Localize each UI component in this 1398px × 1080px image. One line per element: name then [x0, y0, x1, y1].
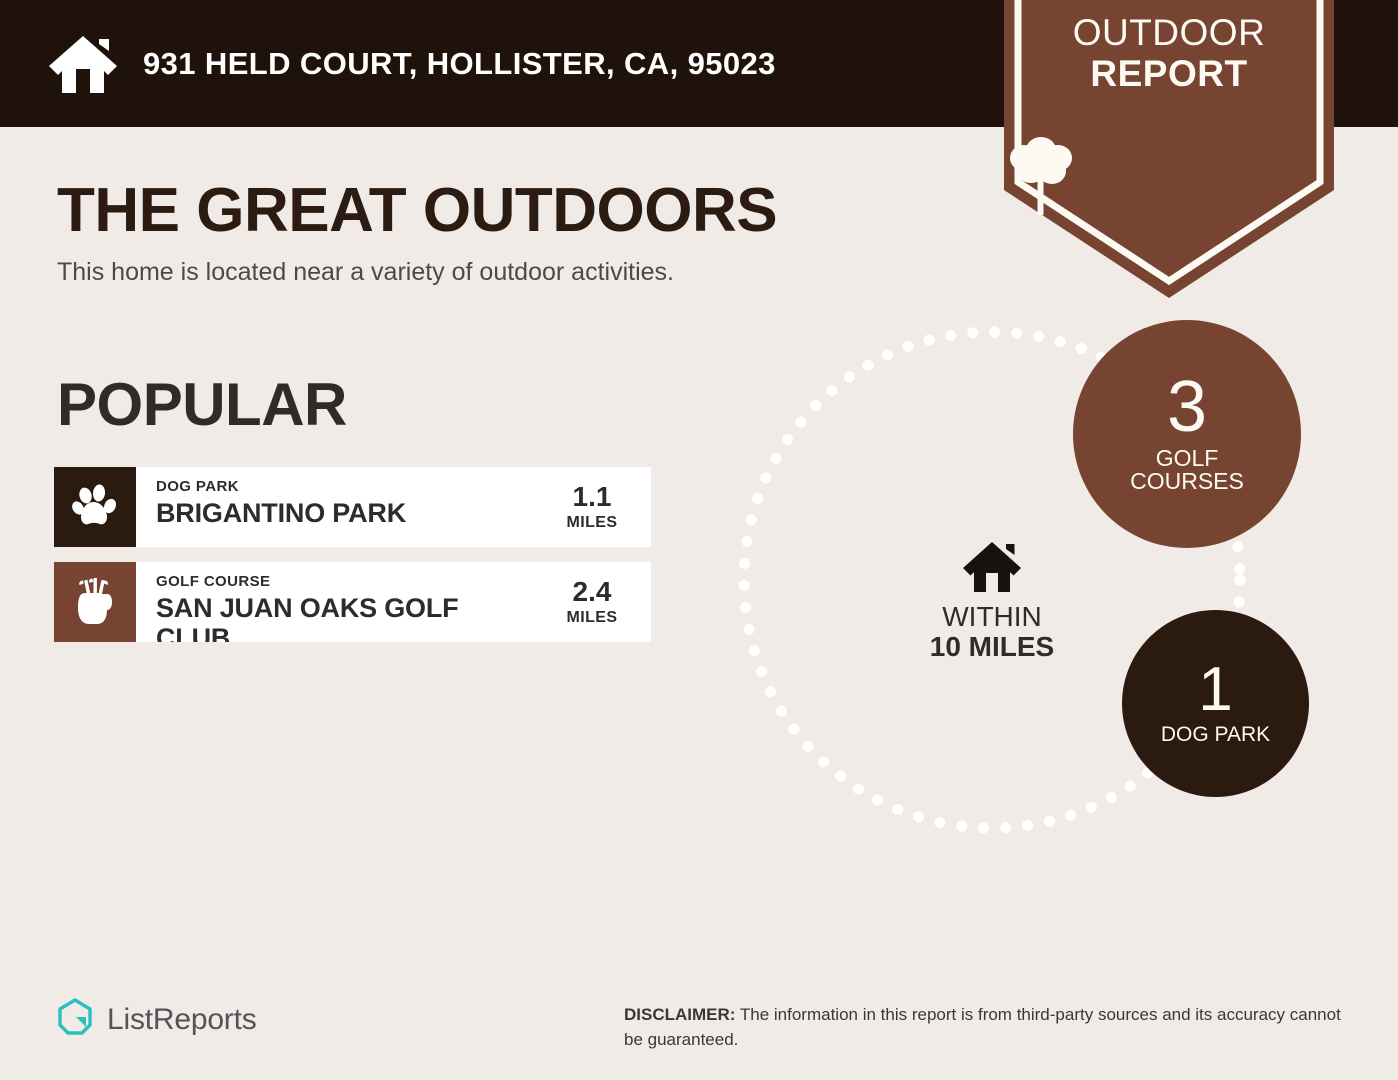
outdoor-report-page: 931 HELD COURT, HOLLISTER, CA, 95023 OUT… [0, 0, 1398, 1080]
distance-value: 2.4 [573, 578, 612, 606]
list-item-distance: 2.4 MILES [541, 562, 651, 642]
stat-label: DOG PARK [1161, 724, 1270, 745]
badge-line-2: REPORT [1004, 55, 1334, 92]
tree-icon [1004, 130, 1334, 216]
listreports-logo-icon [56, 997, 94, 1042]
within-line-1: WITHIN [922, 602, 1062, 632]
page-title: THE GREAT OUTDOORS [57, 175, 777, 246]
list-item-name: SAN JUAN OAKS GOLF CLUB [156, 593, 506, 643]
paw-icon [54, 467, 136, 547]
distance-unit: MILES [567, 609, 618, 627]
list-item-category: DOG PARK [156, 479, 239, 496]
badge-line-1: OUTDOOR [1004, 14, 1334, 51]
stat-bubble-golf-courses: 3 GOLFCOURSES [1073, 320, 1301, 548]
list-item[interactable]: GOLF COURSE SAN JUAN OAKS GOLF CLUB 2.4 … [54, 562, 651, 642]
list-item-text: GOLF COURSE SAN JUAN OAKS GOLF CLUB [136, 562, 541, 642]
popular-list: DOG PARK BRIGANTINO PARK 1.1 MILES [54, 467, 651, 657]
distance-value: 1.1 [573, 483, 612, 511]
disclaimer: DISCLAIMER: The information in this repo… [624, 1003, 1349, 1052]
popular-heading: POPULAR [57, 370, 347, 439]
list-item[interactable]: DOG PARK BRIGANTINO PARK 1.1 MILES [54, 467, 651, 547]
badge-title: OUTDOOR REPORT [1004, 14, 1334, 92]
list-item-distance: 1.1 MILES [541, 467, 651, 547]
stat-label: GOLFCOURSES [1130, 447, 1244, 494]
radius-infographic: WITHIN 10 MILES 3 GOLFCOURSES 1 DOG PARK [690, 300, 1390, 920]
page-subtitle: This home is located near a variety of o… [57, 258, 674, 287]
outdoor-report-badge: OUTDOOR REPORT [1004, 0, 1334, 298]
home-icon [922, 540, 1062, 594]
distance-unit: MILES [567, 514, 618, 532]
home-icon [47, 33, 119, 95]
list-item-name: BRIGANTINO PARK [156, 498, 406, 528]
list-item-category: GOLF COURSE [156, 574, 270, 591]
list-item-text: DOG PARK BRIGANTINO PARK [136, 467, 541, 547]
listreports-wordmark: ListReports [107, 1003, 257, 1037]
golf-bag-icon [54, 562, 136, 642]
stat-bubble-dog-park: 1 DOG PARK [1122, 610, 1309, 797]
listreports-logo[interactable]: ListReports [56, 997, 257, 1042]
property-address: 931 HELD COURT, HOLLISTER, CA, 95023 [143, 46, 776, 82]
within-line-2: 10 MILES [922, 632, 1062, 662]
stat-count: 1 [1198, 661, 1232, 718]
radius-center-label: WITHIN 10 MILES [922, 540, 1062, 662]
disclaimer-label: DISCLAIMER: [624, 1005, 735, 1024]
stat-count: 3 [1167, 374, 1207, 440]
